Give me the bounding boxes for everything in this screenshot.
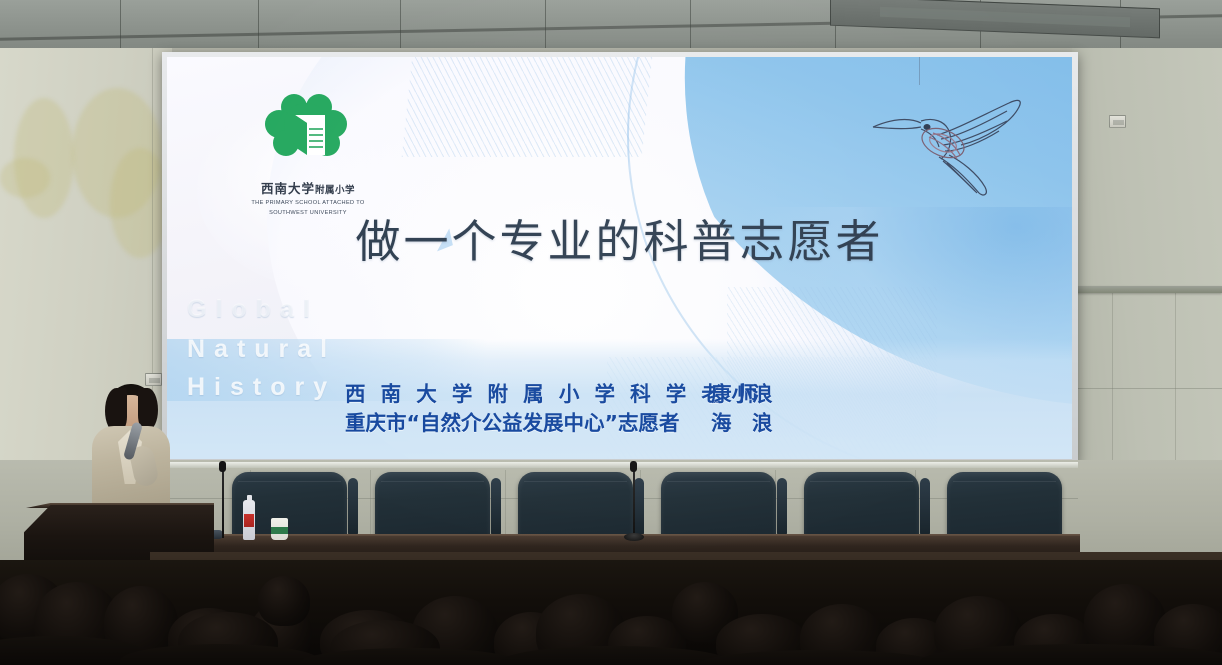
bird-hanging-thread — [919, 57, 920, 85]
chair-armrest — [634, 478, 644, 538]
gooseneck-mic-stand[interactable] — [633, 466, 635, 538]
hummingbird-line-art-icon — [857, 83, 1057, 203]
audience-area — [0, 560, 1222, 665]
slide-surface: 西南大学附属小学 THE PRIMARY SCHOOL ATTACHED TO … — [167, 57, 1072, 459]
gooseneck-mic-stand[interactable] — [222, 466, 224, 538]
water-bottle[interactable] — [243, 500, 255, 540]
paper-cup[interactable] — [271, 518, 288, 540]
credit-row: 重庆市“自然介公益发展中心”志愿者 海 浪 — [345, 409, 773, 437]
credit-name: 康小浪 — [711, 380, 773, 408]
lecture-hall-photo: 西南大学附属小学 THE PRIMARY SCHOOL ATTACHED TO … — [0, 0, 1222, 665]
wall-stain — [110, 148, 170, 258]
watermark-global: Global — [187, 295, 319, 324]
microphone-base — [624, 533, 644, 541]
chair-armrest — [920, 478, 930, 538]
hummingbird-illustration — [857, 83, 1057, 203]
slide-title: 做一个专业的科普志愿者 — [167, 205, 1072, 270]
chair-armrest — [777, 478, 787, 538]
light-switch-plate[interactable] — [1109, 115, 1126, 128]
audience-head — [258, 576, 310, 626]
slide-hatch-pattern — [402, 57, 653, 157]
green-flower-book-logo-icon — [215, 93, 401, 171]
microphone-head-icon — [219, 461, 226, 472]
microphone-head-icon — [630, 461, 637, 472]
watermark-natural: Natural — [187, 335, 336, 364]
wall-tile-seam — [1072, 388, 1222, 389]
logo-chinese-name: 西南大学附属小学 — [215, 178, 401, 197]
credit-organization: 重庆市“自然介公益发展中心”志愿者 — [345, 409, 675, 437]
credit-row: 西 南 大 学 附 属 小 学 科 学 老 师 康小浪 — [345, 380, 773, 408]
projection-screen[interactable]: 西南大学附属小学 THE PRIMARY SCHOOL ATTACHED TO … — [162, 52, 1078, 464]
screen-bottom-rail — [162, 462, 1078, 468]
credit-organization: 西 南 大 学 附 属 小 学 科 学 老 师 — [345, 380, 675, 408]
chair-armrest — [348, 478, 358, 538]
chair-armrest — [491, 478, 501, 538]
watermark-history: History — [187, 373, 336, 402]
wall-chair-rail — [1072, 286, 1222, 293]
presenter — [88, 384, 172, 512]
slide-credits: 西 南 大 学 附 属 小 学 科 学 老 师 康小浪 重庆市“自然介公益发展中… — [345, 380, 773, 437]
wall-stain — [0, 158, 50, 198]
credit-name: 海 浪 — [711, 409, 773, 437]
